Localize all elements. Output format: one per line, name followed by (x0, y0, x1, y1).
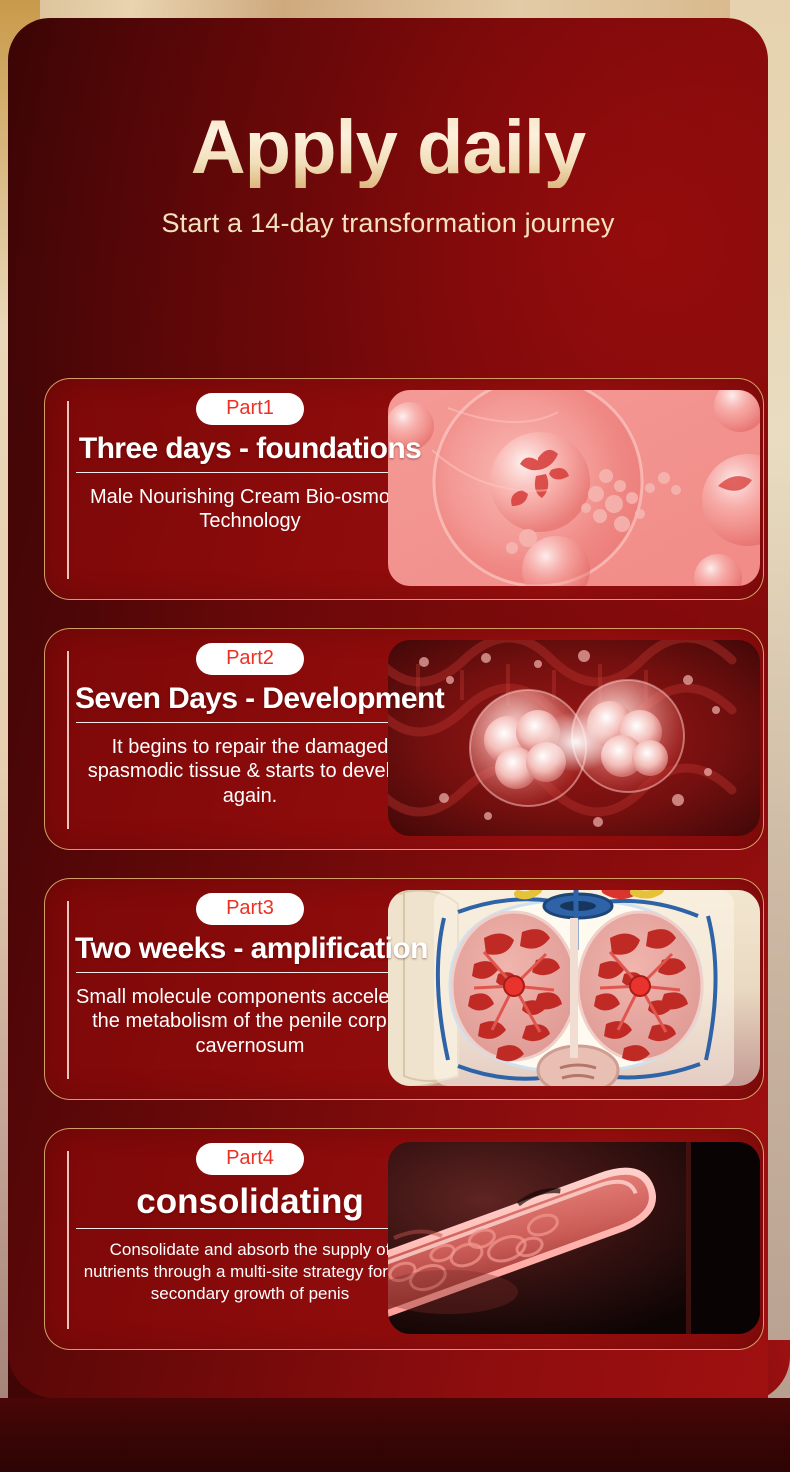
page-title: Apply daily (8, 108, 768, 188)
step-card-part3[interactable]: Part3 Two weeks - amplification Small mo… (44, 878, 764, 1100)
page-subtitle: Start a 14-day transformation journey (8, 208, 768, 239)
step-card-part4[interactable]: Part4 consolidating Consolidate and abso… (44, 1128, 764, 1350)
part-badge: Part4 (196, 1143, 304, 1175)
card-description: Small molecule components accelerate the… (75, 985, 425, 1059)
card-description: Consolidate and absorb the supply of nut… (75, 1239, 425, 1305)
card-accent-rule (67, 651, 69, 829)
corpus-cavernosum-cross-section-diagram (388, 890, 760, 1086)
card-description: Male Nourishing Cream Bio-osmotic Techno… (75, 485, 425, 535)
card-text-block: Part4 consolidating Consolidate and abso… (75, 1143, 425, 1305)
part-badge: Part2 (196, 643, 304, 675)
card-divider (76, 972, 424, 973)
step-card-part1[interactable]: Part1 Three days - foundations Male Nour… (44, 378, 764, 600)
card-title: Two weeks - amplification (75, 932, 425, 966)
tissue-glow-photo (388, 1142, 760, 1334)
card-text-block: Part3 Two weeks - amplification Small mo… (75, 893, 425, 1059)
main-panel: Apply daily Start a 14-day transformatio… (8, 18, 768, 1398)
header: Apply daily Start a 14-day transformatio… (8, 18, 768, 239)
card-accent-rule (67, 1151, 69, 1329)
card-text-block: Part1 Three days - foundations Male Nour… (75, 393, 425, 534)
step-card-part2[interactable]: Part2 Seven Days - Development It begins… (44, 628, 764, 850)
card-title: consolidating (75, 1182, 425, 1222)
panel-footer-band (0, 1398, 790, 1472)
card-title: Seven Days - Development (75, 682, 425, 716)
card-divider (76, 472, 424, 473)
card-text-block: Part2 Seven Days - Development It begins… (75, 643, 425, 809)
card-title: Three days - foundations (75, 432, 425, 466)
card-description: It begins to repair the damaged spasmodi… (75, 735, 425, 809)
part-badge: Part1 (196, 393, 304, 425)
part-badge: Part3 (196, 893, 304, 925)
card-accent-rule (67, 401, 69, 579)
card-divider (76, 1228, 424, 1229)
card-accent-rule (67, 901, 69, 1079)
cell-division-dna-photo (388, 640, 760, 836)
serum-bubbles-photo (388, 390, 760, 586)
card-divider (76, 722, 424, 723)
